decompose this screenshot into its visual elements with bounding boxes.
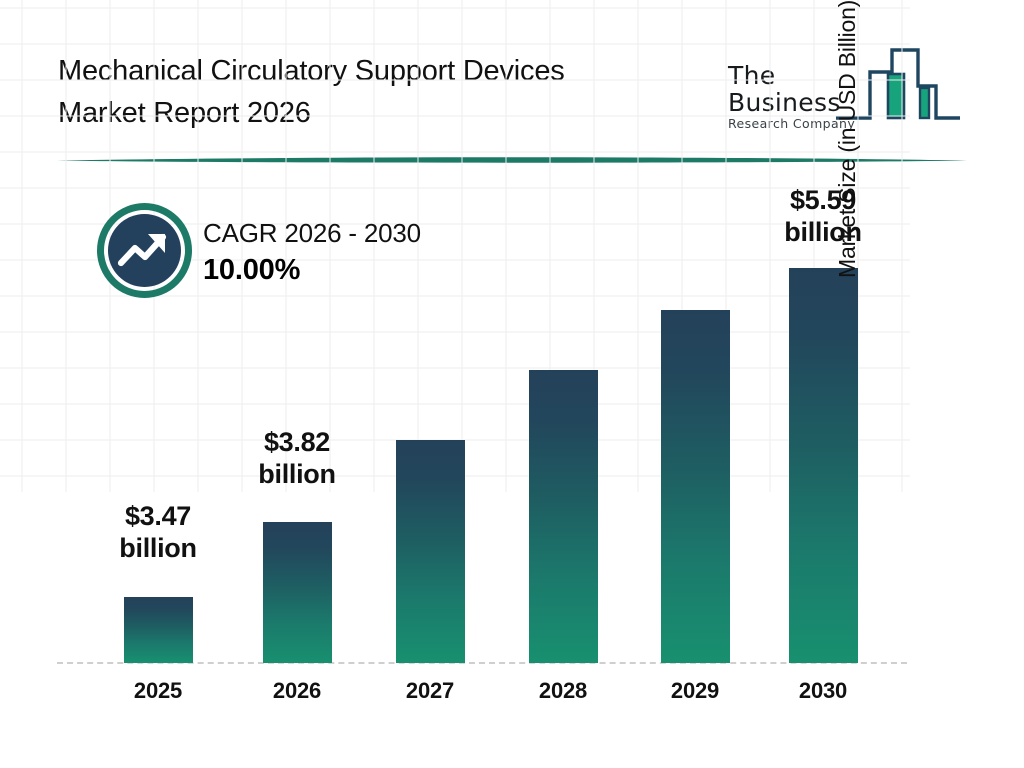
x-axis-label-2027: 2027 bbox=[370, 678, 490, 704]
bar-2025[interactable] bbox=[124, 597, 193, 663]
x-axis-label-2029: 2029 bbox=[635, 678, 755, 704]
cagr-period-label: CAGR 2026 - 2030 bbox=[203, 216, 421, 250]
bar-2026[interactable] bbox=[263, 522, 332, 663]
x-axis-label-2025: 2025 bbox=[98, 678, 218, 704]
cagr-value-label: 10.00% bbox=[203, 250, 421, 290]
x-axis-label-2030: 2030 bbox=[763, 678, 883, 704]
bar-2029[interactable] bbox=[661, 310, 730, 663]
y-axis-title: Market Size (in USD Billion) bbox=[834, 0, 870, 278]
bar-value-unit-2026: billion bbox=[232, 458, 362, 490]
bar-value-label-2025: $3.47 billion bbox=[93, 500, 223, 564]
y-axis-title-text: Market Size (in USD Billion) bbox=[834, 0, 861, 278]
bar-2028[interactable] bbox=[529, 370, 598, 663]
x-axis-label-2028: 2028 bbox=[503, 678, 623, 704]
bar-value-label-2026: $3.82 billion bbox=[232, 426, 362, 490]
cagr-text-block: CAGR 2026 - 2030 10.00% bbox=[203, 216, 421, 290]
bar-value-amount-2025: $3.47 bbox=[93, 500, 223, 532]
bar-2027[interactable] bbox=[396, 440, 465, 663]
x-axis-label-2026: 2026 bbox=[237, 678, 357, 704]
bar-2030[interactable] bbox=[789, 268, 858, 663]
cagr-badge-icon bbox=[97, 203, 192, 298]
bar-value-unit-2025: billion bbox=[93, 532, 223, 564]
bar-value-amount-2026: $3.82 bbox=[232, 426, 362, 458]
